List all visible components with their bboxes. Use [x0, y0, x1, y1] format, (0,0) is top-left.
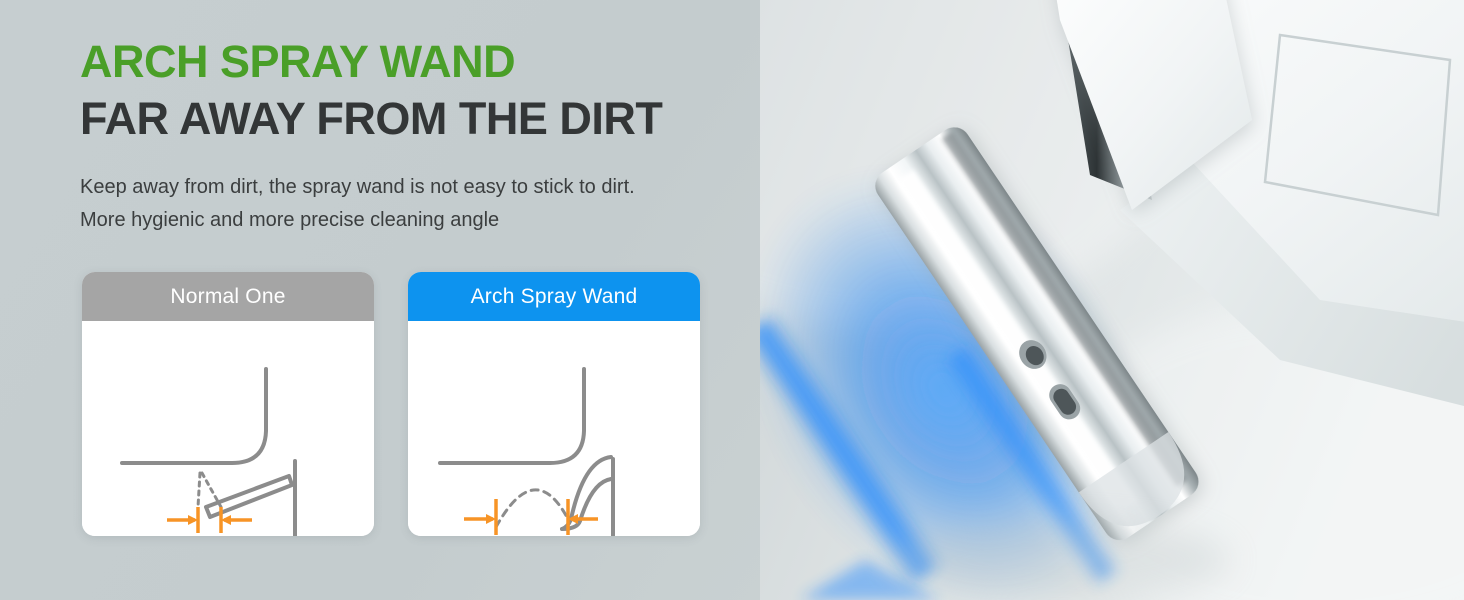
page-title-primary: ARCH SPRAY WAND: [80, 38, 800, 85]
description-text: Keep away from dirt, the spray wand is n…: [80, 171, 800, 237]
description-line-2: More hygienic and more precise cleaning …: [80, 204, 800, 237]
comparison-card-normal: Normal One: [82, 272, 374, 536]
copy-block: ARCH SPRAY WAND FAR AWAY FROM THE DIRT K…: [80, 38, 800, 237]
page-title-secondary: FAR AWAY FROM THE DIRT: [80, 95, 800, 142]
description-line-1: Keep away from dirt, the spray wand is n…: [80, 171, 800, 204]
bowl-outline-icon: [122, 369, 266, 463]
diagram-normal-wand: [82, 321, 374, 536]
product-photo: [760, 0, 1464, 600]
card-title-arch: Arch Spray Wand: [408, 272, 700, 321]
spray-arc-path-icon: [496, 490, 568, 527]
diagram-arch-wand: [408, 321, 700, 536]
promo-banner: ARCH SPRAY WAND FAR AWAY FROM THE DIRT K…: [0, 0, 1464, 600]
bowl-outline-icon: [440, 369, 584, 463]
contact-shadow: [890, 520, 1230, 600]
card-title-normal: Normal One: [82, 272, 374, 321]
comparison-cards: Normal One: [82, 272, 700, 536]
wand-body-icon: [206, 476, 292, 517]
spray-path-left-icon: [198, 473, 200, 507]
comparison-card-arch: Arch Spray Wand: [408, 272, 700, 536]
